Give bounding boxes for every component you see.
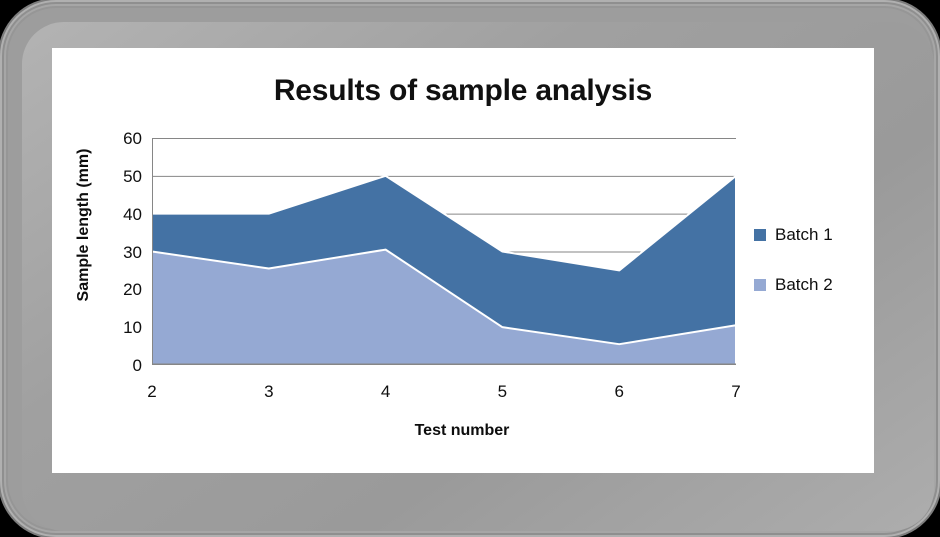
y-tick-label: 20 (96, 281, 142, 298)
legend-item[interactable]: Batch 2 (754, 270, 874, 300)
legend-swatch-icon (754, 229, 766, 241)
y-tick-label: 10 (96, 319, 142, 336)
chart-title: Results of sample analysis (52, 74, 874, 108)
chart-legend: Batch 1Batch 2 (754, 220, 874, 320)
legend-swatch-icon (754, 279, 766, 291)
y-tick-label: 60 (96, 130, 142, 147)
x-tick-label: 6 (599, 383, 639, 400)
series-areas (152, 176, 736, 365)
x-tick-label: 7 (716, 383, 756, 400)
y-tick-label: 50 (96, 168, 142, 185)
x-tick-label: 5 (482, 383, 522, 400)
plot-area (152, 138, 736, 365)
y-tick-label: 0 (96, 357, 142, 374)
y-axis-title: Sample length (mm) (75, 125, 93, 325)
chart-canvas: Results of sample analysis Sample length… (52, 48, 874, 473)
x-tick-label: 2 (132, 383, 172, 400)
y-tick-label: 40 (96, 206, 142, 223)
x-tick-label: 4 (366, 383, 406, 400)
legend-label: Batch 1 (775, 225, 833, 245)
area-chart-svg (152, 138, 736, 365)
legend-item[interactable]: Batch 1 (754, 220, 874, 250)
screenshot-root: Results of sample analysis Sample length… (0, 0, 940, 537)
y-tick-label: 30 (96, 244, 142, 261)
legend-label: Batch 2 (775, 275, 833, 295)
x-tick-label: 3 (249, 383, 289, 400)
x-axis-title: Test number (152, 422, 772, 440)
